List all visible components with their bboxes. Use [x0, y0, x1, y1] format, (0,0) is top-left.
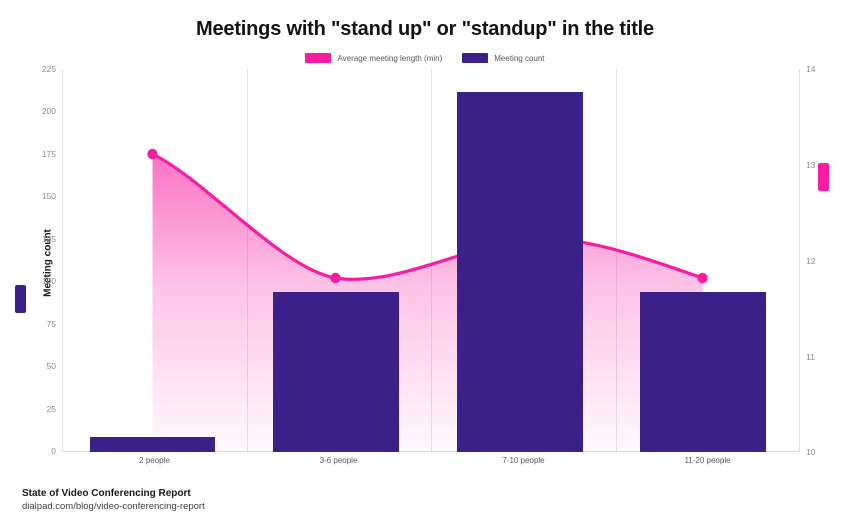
data-point-marker[interactable]	[697, 273, 707, 283]
y-tick-left: 75	[36, 319, 56, 329]
footer: State of Video Conferencing Report dialp…	[22, 488, 205, 512]
y-tick-right: 10	[806, 447, 815, 457]
y-tick-left: 50	[36, 361, 56, 371]
legend-swatch-bar-icon	[462, 53, 488, 63]
legend-label: Average meeting length (min)	[337, 54, 442, 63]
y-tick-left: 100	[36, 276, 56, 286]
y-tick-left: 175	[36, 149, 56, 159]
plot-inner	[62, 69, 800, 452]
bar-7-10-people[interactable]	[457, 92, 583, 452]
plot-area	[62, 69, 800, 452]
y-tick-left: 225	[36, 64, 56, 74]
legend-label: Meeting count	[494, 54, 544, 63]
bar-3-6-people[interactable]	[273, 292, 399, 452]
legend-swatch-line-icon	[305, 53, 331, 63]
x-tick-label: 11-20 people	[615, 456, 800, 465]
y-tick-right: 12	[806, 256, 815, 266]
footer-title: State of Video Conferencing Report	[22, 488, 205, 499]
y-tick-right: 11	[806, 352, 815, 362]
legend-item-avg-meeting-length[interactable]: Average meeting length (min)	[305, 53, 442, 63]
page-title: Meetings with "stand up" or "standup" in…	[0, 18, 850, 41]
y-tick-right: 13	[806, 160, 815, 170]
x-tick-label: 7-10 people	[431, 456, 616, 465]
y-tick-left: 150	[36, 191, 56, 201]
y-tick-left: 0	[36, 446, 56, 456]
y-axis-right-swatch-icon	[818, 163, 829, 191]
y-tick-left: 200	[36, 106, 56, 116]
x-tick-label: 3-6 people	[246, 456, 431, 465]
y-tick-left: 25	[36, 404, 56, 414]
chart-page: Meetings with "stand up" or "standup" in…	[0, 0, 850, 526]
bar-11-20-people[interactable]	[640, 292, 766, 452]
legend-item-meeting-count[interactable]: Meeting count	[462, 53, 544, 63]
y-tick-left: 125	[36, 234, 56, 244]
bar-2-people[interactable]	[90, 437, 215, 452]
data-point-marker[interactable]	[330, 273, 340, 283]
chart-legend: Average meeting length (min) Meeting cou…	[0, 53, 850, 63]
data-point-marker[interactable]	[147, 149, 157, 159]
y-axis-left-swatch-icon	[15, 285, 26, 313]
footer-url[interactable]: dialpad.com/blog/video-conferencing-repo…	[22, 501, 205, 512]
x-tick-label: 2 people	[62, 456, 247, 465]
area-fill	[153, 154, 703, 452]
y-tick-right: 14	[806, 64, 815, 74]
